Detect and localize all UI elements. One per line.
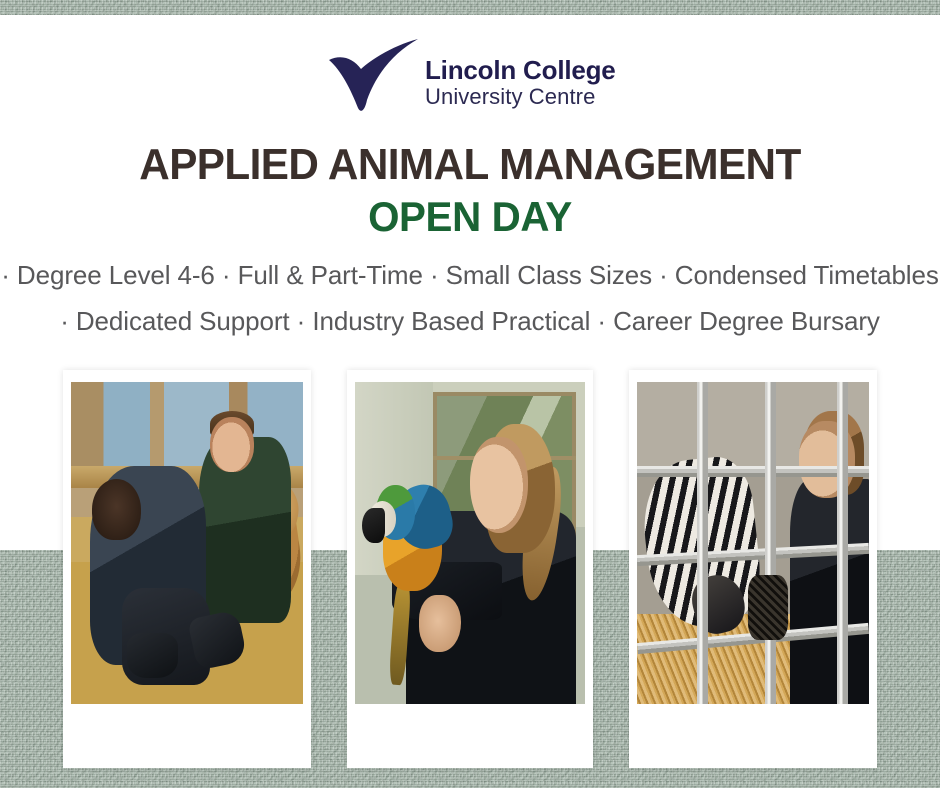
photo-scene: [637, 382, 869, 704]
feature-line-one: · Degree Level 4-6 · Full & Part-Time · …: [0, 260, 940, 291]
photo-students-goat: [71, 382, 303, 704]
photo-card-student-macaw: [347, 370, 593, 768]
photo-student-zebra: [637, 382, 869, 704]
poster-title: APPLIED ANIMAL MANAGEMENT: [19, 140, 921, 190]
logo-wordmark: Lincoln College University Centre: [425, 57, 616, 114]
photo-card-students-goat: [63, 370, 311, 768]
logo-line-one: Lincoln College: [425, 57, 616, 83]
checkmark-tick-icon: [325, 38, 421, 114]
photo-card-student-zebra: [629, 370, 877, 768]
poster-subtitle: OPEN DAY: [19, 193, 921, 241]
photo-student-macaw: [355, 382, 585, 704]
logo-line-two: University Centre: [425, 86, 616, 108]
poster-canvas: Lincoln College University Centre APPLIE…: [0, 0, 940, 788]
background-texture-top: [0, 0, 940, 15]
photo-scene: [355, 382, 585, 704]
college-logo: Lincoln College University Centre: [325, 36, 625, 114]
photo-scene: [71, 382, 303, 704]
feature-line-two: · Dedicated Support · Industry Based Pra…: [0, 306, 940, 337]
